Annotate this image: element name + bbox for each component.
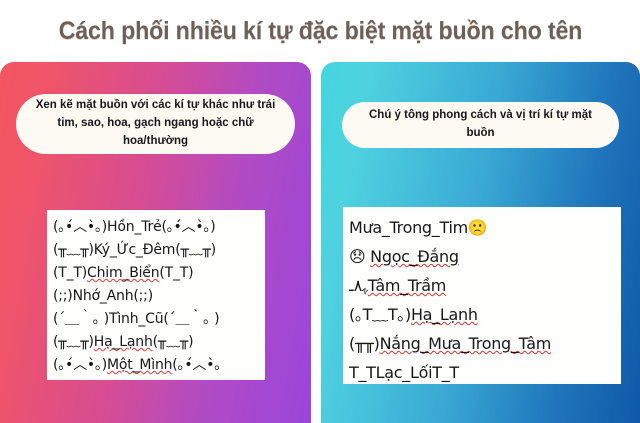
kaomoji-line: (╥﹏╥)Ký_Ức_Đêm(╥﹏╥) xyxy=(53,239,265,262)
right-examples-card: Mưa_Trong_Tim🙁😞 Ngọc_Đắngﮩ٨ـTâm_Trầm(｡T﹏… xyxy=(343,207,621,384)
kaomoji-suffix: (╥﹏╥) xyxy=(153,334,194,350)
kaomoji-prefix: (｡•́︿•̀｡) xyxy=(53,357,107,373)
kaomoji-name: Tâm_Trầm xyxy=(368,276,446,295)
left-examples-card: (｡•́︿•̀｡)Hồn_Trẻ(｡•́︿•̀｡)(╥﹏╥)Ký_Ức_Đêm(… xyxy=(47,210,265,380)
kaomoji-line: Mưa_Trong_Tim🙁 xyxy=(349,213,621,242)
kaomoji-suffix: (;;) xyxy=(133,288,153,304)
kaomoji-name: Nhớ_Anh xyxy=(73,288,134,304)
kaomoji-name: Hồn_Trẻ xyxy=(107,219,161,235)
kaomoji-prefix: (;;) xyxy=(53,288,73,304)
right-panel: Chú ý tông phong cách và vị trí kí tự mặ… xyxy=(321,62,640,423)
kaomoji-name: Chim_Biển xyxy=(87,265,159,281)
kaomoji-line: (´＿｀｡ )Tình_Cũ(´＿｀｡ ) xyxy=(53,308,265,331)
title-bar: Cách phối nhiều kí tự đặc biệt mặt buồn … xyxy=(0,0,640,62)
kaomoji-name: Hạ_Lạnh xyxy=(411,305,478,324)
kaomoji-line: (T_T)Chim_Biển(T_T) xyxy=(53,262,265,285)
kaomoji-prefix: (´＿｀｡ ) xyxy=(53,311,109,327)
kaomoji-name: Nắng_Mưa_Trong_Tâm xyxy=(380,334,551,353)
panels-container: Xen kẽ mặt buồn với các kí tự khác như t… xyxy=(0,62,640,423)
kaomoji-prefix: T_T xyxy=(349,363,376,382)
kaomoji-suffix: (T_T) xyxy=(159,265,193,281)
kaomoji-line: (;;)Nhớ_Anh(;;) xyxy=(53,285,265,308)
kaomoji-line: 😞 Ngọc_Đắng xyxy=(349,242,621,271)
kaomoji-prefix: (T_T) xyxy=(53,265,87,281)
kaomoji-line: (｡•́︿•̀｡)Một_Mình(｡•́︿•̀｡ xyxy=(53,354,265,377)
kaomoji-prefix: (｡•́︿•̀｡) xyxy=(53,219,107,235)
kaomoji-suffix: (╥﹏╥) xyxy=(175,242,216,258)
kaomoji-prefix: ﮩ٨ـ xyxy=(349,276,368,295)
kaomoji-suffix: (｡•́︿•̀｡ xyxy=(172,357,221,373)
kaomoji-name: Ngọc_Đắng xyxy=(370,247,459,266)
kaomoji-prefix: (╥╥) xyxy=(349,334,380,353)
kaomoji-suffix: (｡•́︿•̀｡) xyxy=(161,219,215,235)
kaomoji-prefix: (╥﹏╥) xyxy=(53,334,94,350)
kaomoji-suffix: T_T xyxy=(432,363,459,382)
kaomoji-prefix: (｡T﹏T｡) xyxy=(349,305,411,324)
kaomoji-line: T_TLạc_LốiT_T xyxy=(349,358,621,384)
kaomoji-line: ﮩ٨ـTâm_Trầm xyxy=(349,271,621,300)
kaomoji-suffix: (´＿｀｡ ) xyxy=(163,311,219,327)
kaomoji-name: Mưa_Trong_Tim xyxy=(349,218,468,237)
right-callout: Chú ý tông phong cách và vị trí kí tự mặ… xyxy=(342,102,619,148)
left-callout: Xen kẽ mặt buồn với các kí tự khác như t… xyxy=(16,94,295,154)
kaomoji-name: Lạc_Lối xyxy=(376,363,433,382)
kaomoji-line: (╥╥)Nắng_Mưa_Trong_Tâm xyxy=(349,329,621,358)
kaomoji-line: (｡T﹏T｡)Hạ_Lạnh xyxy=(349,300,621,329)
kaomoji-name: Ký_Ức_Đêm xyxy=(94,242,175,258)
kaomoji-suffix: 🙁 xyxy=(468,218,488,237)
page-title: Cách phối nhiều kí tự đặc biệt mặt buồn … xyxy=(58,17,582,46)
kaomoji-line: (╥﹏╥)Hạ_Lạnh(╥﹏╥) xyxy=(53,331,265,354)
kaomoji-prefix: 😞 xyxy=(349,247,370,266)
kaomoji-line: (｡•́︿•̀｡)Hồn_Trẻ(｡•́︿•̀｡) xyxy=(53,216,265,239)
panel-divider xyxy=(311,62,321,423)
kaomoji-name: Tình_Cũ xyxy=(109,311,163,327)
kaomoji-name: Một_Mình xyxy=(107,357,172,373)
left-panel: Xen kẽ mặt buồn với các kí tự khác như t… xyxy=(0,62,311,423)
kaomoji-prefix: (╥﹏╥) xyxy=(53,242,94,258)
kaomoji-name: Hạ_Lạnh xyxy=(94,334,153,350)
